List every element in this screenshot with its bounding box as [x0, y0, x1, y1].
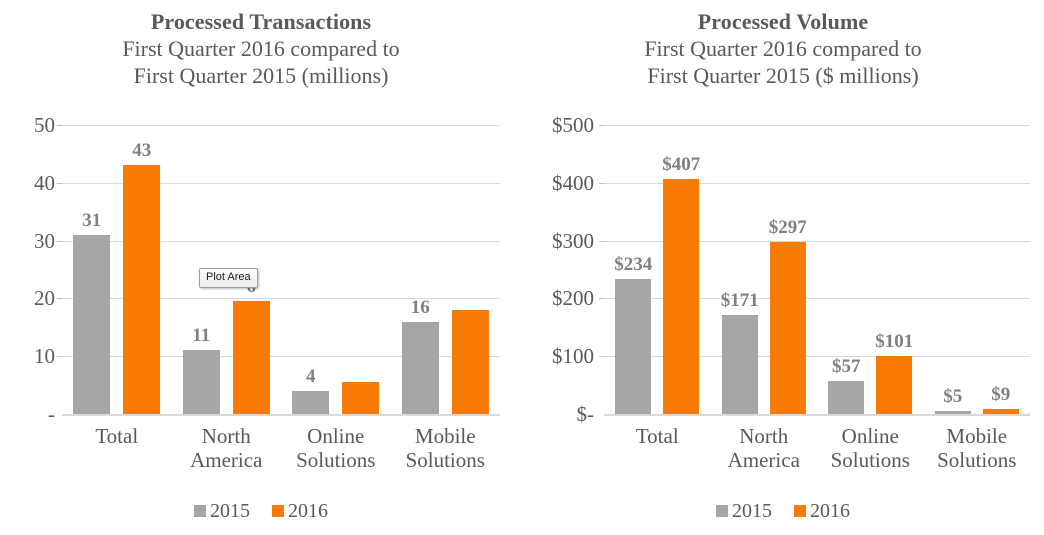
- y-axis-tick: [599, 356, 604, 357]
- legend-item-2016[interactable]: 2016: [794, 501, 850, 521]
- plot-area-right[interactable]: $-$100$200$300$400$500$234$407Total$171$…: [522, 0, 1044, 535]
- x-axis-category-label: OnlineSolutions: [817, 424, 924, 472]
- bar-2015-north-america[interactable]: [183, 350, 220, 414]
- bar-2015-mobile-solutions[interactable]: [935, 411, 971, 414]
- x-axis-category-label: Total: [62, 424, 172, 448]
- y-axis-tick-label: -: [0, 404, 55, 425]
- y-axis-tick: [57, 298, 62, 299]
- legend-right: 2015 2016: [522, 501, 1044, 521]
- y-axis-tick-label: 50: [0, 115, 55, 136]
- x-axis-category-label-line: America: [172, 448, 282, 472]
- data-label-2016-online-solutions: $101: [851, 332, 937, 351]
- data-label-2015-online-solutions: 4: [267, 367, 354, 386]
- bar-2016-total[interactable]: [123, 165, 160, 414]
- gridline: [62, 125, 500, 126]
- legend-item-2015[interactable]: 2015: [716, 501, 772, 521]
- x-axis-category-label-line: Online: [817, 424, 924, 448]
- x-axis-category-label: NorthAmerica: [711, 424, 818, 472]
- bar-2015-north-america[interactable]: [722, 315, 758, 414]
- bar-2015-online-solutions[interactable]: [828, 381, 864, 414]
- legend-label-2016: 2016: [810, 501, 850, 521]
- legend-item-2015[interactable]: 2015: [194, 501, 250, 521]
- y-axis-tick: [57, 125, 62, 126]
- x-axis-category-label-line: North: [711, 424, 818, 448]
- x-axis-category-label-line: Solutions: [817, 448, 924, 472]
- x-axis-category-label: OnlineSolutions: [281, 424, 391, 472]
- dual-bar-chart-figure: Processed Transactions First Quarter 201…: [0, 0, 1044, 535]
- legend-left: 2015 2016: [0, 501, 522, 521]
- legend-item-2016[interactable]: 2016: [272, 501, 328, 521]
- data-label-2015-north-america: 11: [158, 326, 245, 345]
- y-axis-tick: [599, 241, 604, 242]
- y-axis-tick-label: 20: [0, 288, 55, 309]
- chart-panel-processed-transactions: Processed Transactions First Quarter 201…: [0, 0, 522, 535]
- y-axis-tick: [599, 125, 604, 126]
- bar-2016-total[interactable]: [663, 179, 699, 414]
- x-axis-category-label: Total: [604, 424, 711, 448]
- y-axis-tick-label: $500: [524, 115, 594, 136]
- y-axis-tick: [57, 183, 62, 184]
- y-axis-tick-label: $400: [524, 173, 594, 194]
- bar-2016-online-solutions[interactable]: [342, 382, 379, 414]
- x-axis-category-label: MobileSolutions: [391, 424, 501, 472]
- y-axis-tick-label: $200: [524, 288, 594, 309]
- y-axis-tick-label: $100: [524, 346, 594, 367]
- legend-label-2015: 2015: [210, 501, 250, 521]
- chart-panel-processed-volume: Processed Volume First Quarter 2016 comp…: [522, 0, 1044, 535]
- y-axis-tick: [57, 241, 62, 242]
- x-axis-category-label-line: Solutions: [281, 448, 391, 472]
- x-axis-line: [62, 414, 500, 416]
- y-axis-tick-label: $-: [524, 404, 594, 425]
- y-axis-tick-label: 40: [0, 173, 55, 194]
- legend-swatch-2016-icon: [794, 505, 806, 517]
- x-axis-category-label-line: Solutions: [391, 448, 501, 472]
- x-axis-category-label: NorthAmerica: [172, 424, 282, 472]
- x-axis-category-label-line: Mobile: [924, 424, 1031, 448]
- gridline: [604, 125, 1030, 126]
- x-axis-category-label: MobileSolutions: [924, 424, 1031, 472]
- bar-2016-mobile-solutions[interactable]: [452, 310, 489, 414]
- bar-2015-mobile-solutions[interactable]: [402, 322, 439, 414]
- plot-area-tooltip: Plot Area: [199, 268, 258, 288]
- legend-swatch-2016-icon: [272, 505, 284, 517]
- x-axis-category-label-line: Online: [281, 424, 391, 448]
- x-axis-category-label-line: Total: [62, 424, 172, 448]
- x-axis-line: [604, 414, 1030, 416]
- data-label-2016-north-america: $297: [745, 218, 831, 237]
- legend-swatch-2015-icon: [716, 505, 728, 517]
- y-axis-tick-label: 30: [0, 231, 55, 252]
- y-axis-tick-label: 10: [0, 346, 55, 367]
- data-label-2016-total: 43: [98, 141, 185, 160]
- y-axis-tick: [599, 298, 604, 299]
- x-axis-category-label-line: North: [172, 424, 282, 448]
- bar-2015-online-solutions[interactable]: [292, 391, 329, 414]
- y-axis-tick-label: $300: [524, 231, 594, 252]
- x-axis-category-label-line: Mobile: [391, 424, 501, 448]
- data-label-2016-mobile-solutions: $9: [958, 385, 1044, 404]
- legend-label-2016: 2016: [288, 501, 328, 521]
- y-axis-tick: [57, 356, 62, 357]
- data-label-2015-total: 31: [48, 211, 135, 230]
- x-axis-category-label-line: Total: [604, 424, 711, 448]
- y-axis-tick: [599, 183, 604, 184]
- data-label-2015-mobile-solutions: 16: [377, 298, 464, 317]
- legend-swatch-2015-icon: [194, 505, 206, 517]
- legend-label-2015: 2015: [732, 501, 772, 521]
- x-axis-category-label-line: America: [711, 448, 818, 472]
- bar-2015-total[interactable]: [615, 279, 651, 414]
- bar-2016-north-america[interactable]: [770, 242, 806, 414]
- bar-2016-online-solutions[interactable]: [876, 356, 912, 414]
- x-axis-category-label-line: Solutions: [924, 448, 1031, 472]
- bar-2015-total[interactable]: [73, 235, 110, 414]
- bar-2016-mobile-solutions[interactable]: [983, 409, 1019, 414]
- data-label-2016-total: $407: [638, 155, 724, 174]
- plot-area-left[interactable]: -10203040503143Total116NorthAmerica4Onli…: [0, 0, 522, 535]
- bar-2016-north-america[interactable]: [233, 301, 270, 414]
- plot-area-tooltip-label: Plot Area: [206, 271, 251, 283]
